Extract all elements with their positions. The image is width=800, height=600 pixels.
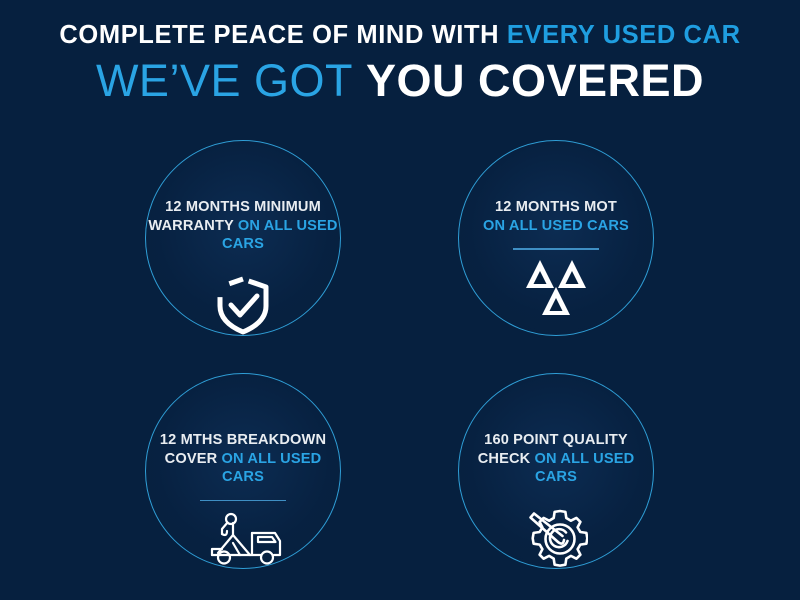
header-line-1: COMPLETE PEACE OF MIND WITH EVERY USED C… — [0, 22, 800, 49]
feature-circle-warranty[interactable]: 12 MONTHS MINIMUM WARRANTY ON ALL USED C… — [145, 140, 341, 336]
header-line-2: WE’VE GOT YOU COVERED — [0, 58, 800, 104]
feature-circle-quality-check[interactable]: 160 POINT QUALITY CHECK ON ALL USED CARS — [458, 373, 654, 569]
divider — [200, 500, 286, 501]
tow-truck-icon — [200, 510, 286, 568]
header-line2-white: YOU COVERED — [366, 55, 704, 106]
gear-wrench-icon — [524, 506, 588, 568]
divider — [513, 248, 599, 249]
shield-check-icon — [214, 275, 272, 335]
feature-text-mot: 12 MONTHS MOTON ALL USED CARS — [456, 198, 656, 235]
feature-title-blue: ON ALL USED CARS — [222, 451, 322, 486]
mot-triangles-icon — [523, 256, 589, 318]
header-line2-blue: WE’VE GOT — [96, 55, 353, 106]
feature-title-white: 12 MONTHS MOT — [495, 199, 617, 215]
header-line1-white: COMPLETE PEACE OF MIND WITH — [59, 21, 499, 49]
banner-stage: COMPLETE PEACE OF MIND WITH EVERY USED C… — [0, 0, 800, 600]
feature-title-blue: ON ALL USED CARS — [535, 451, 635, 486]
feature-text-warranty: 12 MONTHS MINIMUM WARRANTY ON ALL USED C… — [143, 198, 343, 254]
header-line1-blue: EVERY USED CAR — [507, 21, 741, 49]
feature-text-quality-check: 160 POINT QUALITY CHECK ON ALL USED CARS — [456, 431, 656, 487]
feature-circle-breakdown[interactable]: 12 MTHS BREAKDOWN COVER ON ALL USED CARS — [145, 373, 341, 569]
feature-title-blue: ON ALL USED CARS — [222, 218, 338, 253]
feature-title-blue: ON ALL USED CARS — [483, 218, 629, 234]
feature-circle-mot[interactable]: 12 MONTHS MOTON ALL USED CARS — [458, 140, 654, 336]
banner-header: COMPLETE PEACE OF MIND WITH EVERY USED C… — [0, 22, 800, 104]
feature-text-breakdown: 12 MTHS BREAKDOWN COVER ON ALL USED CARS — [143, 431, 343, 487]
